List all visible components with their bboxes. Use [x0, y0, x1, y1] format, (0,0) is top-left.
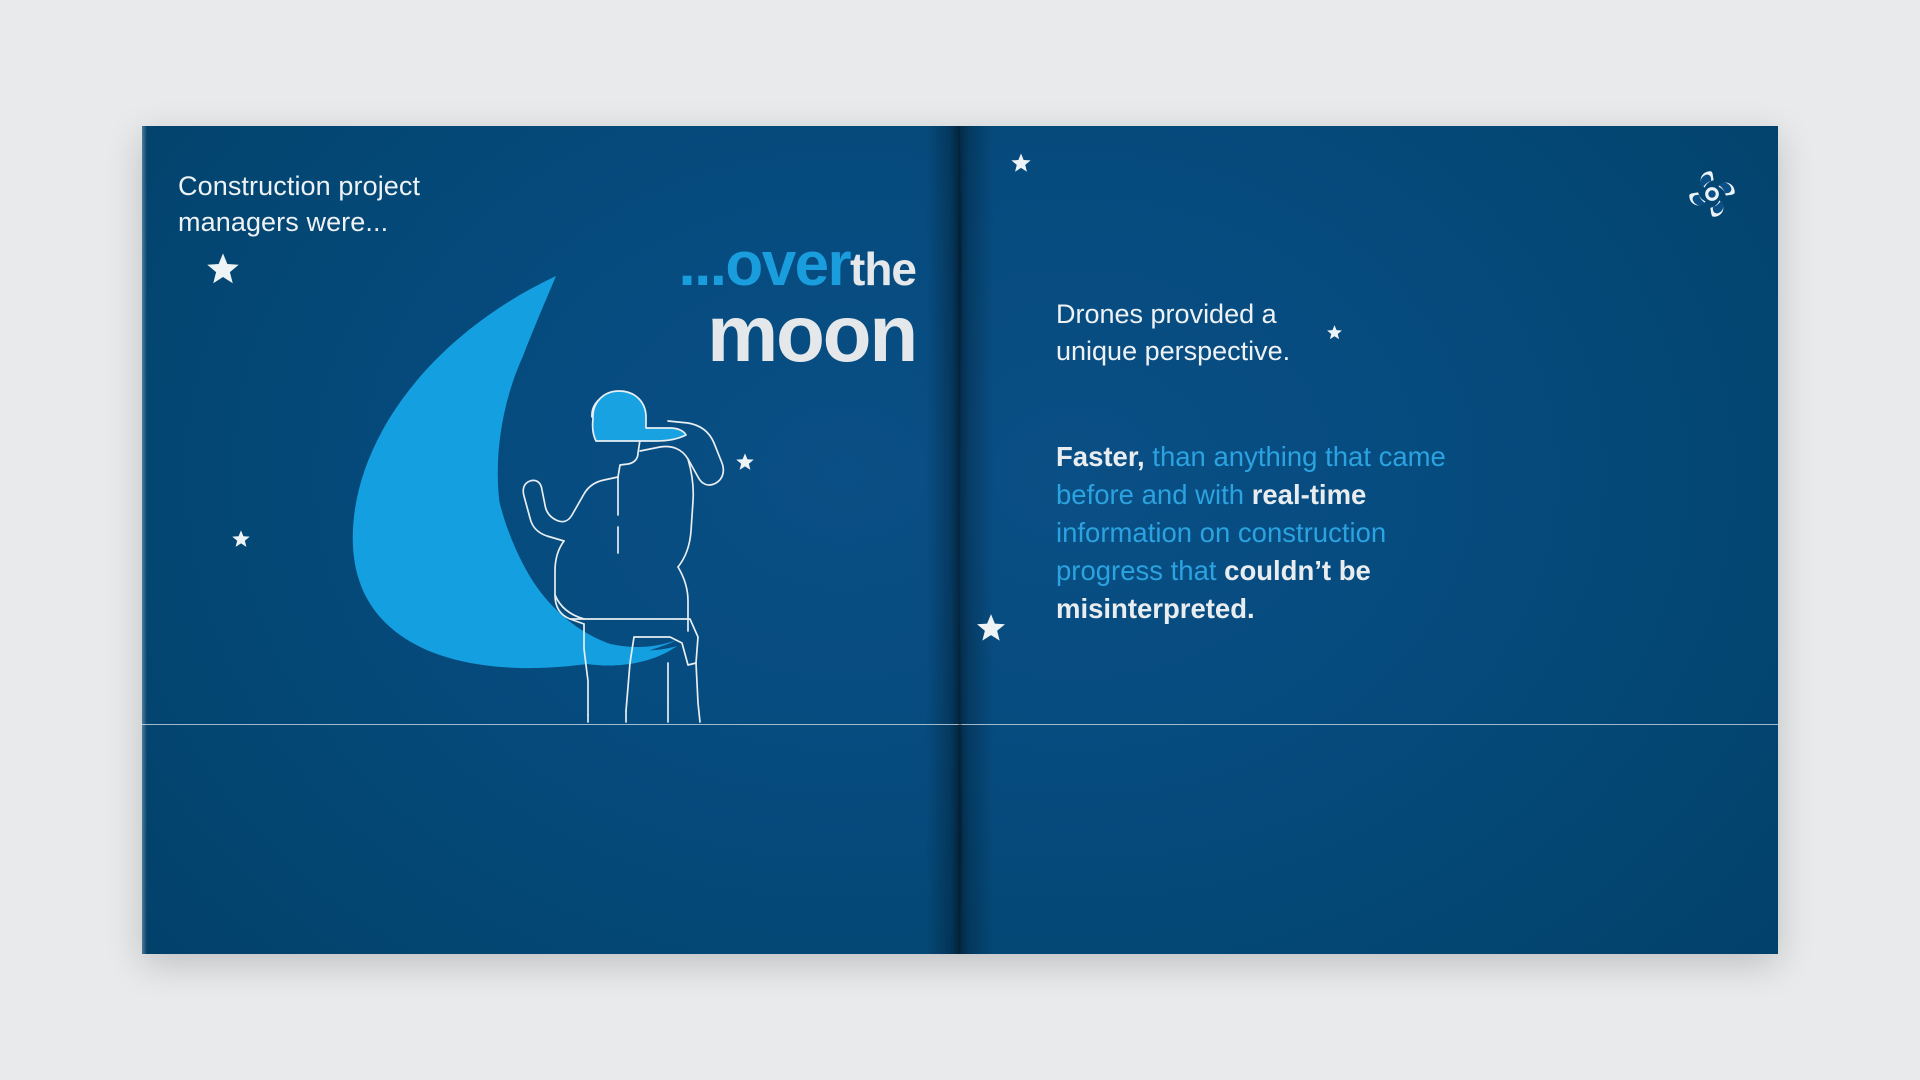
- star-icon: [1326, 324, 1343, 341]
- horizon-line: [142, 724, 960, 725]
- page-gutter-shadow-left: [926, 126, 960, 954]
- right-page: Drones provided a unique perspective. Fa…: [960, 126, 1778, 954]
- body-copy: Faster, than anything that came before a…: [1056, 438, 1486, 628]
- spine-fold: [959, 126, 962, 954]
- star-icon: [1010, 152, 1032, 174]
- brochure-spread: Construction project managers were...: [142, 126, 1778, 954]
- star-icon: [735, 452, 755, 472]
- headline-the: the: [850, 243, 916, 295]
- star-icon: [205, 251, 241, 287]
- star-icon: [975, 612, 1007, 644]
- star-icon: [231, 529, 251, 549]
- worker-figure-outline: [492, 381, 782, 721]
- brochure-stage: Construction project managers were...: [0, 0, 1920, 1080]
- horizon-line: [960, 724, 1778, 725]
- body-bold-realtime: real-time: [1252, 479, 1367, 510]
- headline: ...overthe moon: [679, 236, 916, 371]
- page-gutter-shadow-right: [960, 126, 994, 954]
- headline-moon: moon: [679, 296, 916, 371]
- intro-text: Drones provided a unique perspective.: [1056, 296, 1290, 371]
- drone-propeller-logo-icon: [1686, 168, 1738, 220]
- kicker-text: Construction project managers were...: [178, 169, 420, 240]
- body-bold-faster: Faster,: [1056, 441, 1145, 472]
- left-page: Construction project managers were...: [142, 126, 960, 954]
